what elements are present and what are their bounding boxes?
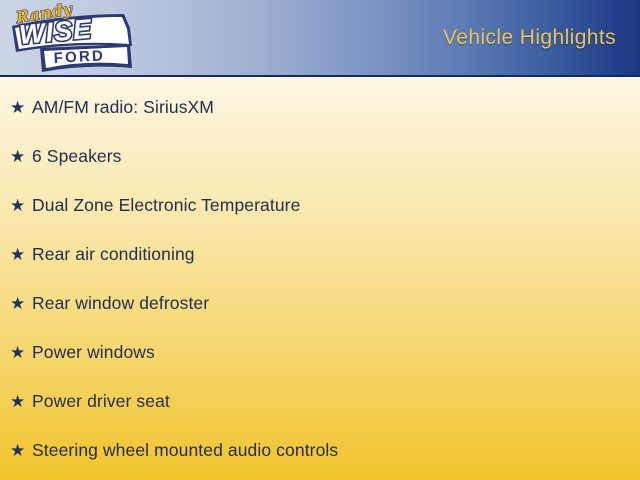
- highlight-item: ★ Dual Zone Electronic Temperature: [0, 197, 640, 246]
- star-bullet-icon: ★: [10, 344, 32, 361]
- highlight-label: AM/FM radio: SiriusXM: [32, 99, 640, 117]
- highlight-label: Rear window defroster: [32, 295, 640, 313]
- highlight-item: ★ AM/FM radio: SiriusXM: [0, 99, 640, 148]
- star-bullet-icon: ★: [10, 99, 32, 116]
- highlight-item: ★ Power windows: [0, 344, 640, 393]
- highlight-label: Power windows: [32, 344, 640, 362]
- highlight-label: Steering wheel mounted audio controls: [32, 442, 640, 460]
- highlight-label: 6 Speakers: [32, 148, 640, 166]
- randy-wise-ford-logo-icon: WISE FORD Randy: [6, 2, 134, 76]
- highlight-item: ★ Rear air conditioning: [0, 246, 640, 295]
- star-bullet-icon: ★: [10, 295, 32, 312]
- highlight-item: ★ Steering wheel mounted audio controls: [0, 442, 640, 480]
- header-bar: WISE FORD Randy Vehicle Highlights: [0, 0, 640, 77]
- highlight-item: ★ Power driver seat: [0, 393, 640, 442]
- highlight-item: ★ Rear window defroster: [0, 295, 640, 344]
- dealer-logo: WISE FORD Randy: [6, 2, 134, 76]
- vehicle-highlights-list: ★ AM/FM radio: SiriusXM ★ 6 Speakers ★ D…: [0, 77, 640, 480]
- highlight-item: ★ 6 Speakers: [0, 148, 640, 197]
- highlight-label: Dual Zone Electronic Temperature: [32, 197, 640, 215]
- vehicle-highlights-slide: WISE FORD Randy Vehicle Highlights ★ AM/…: [0, 0, 640, 480]
- highlight-label: Power driver seat: [32, 393, 640, 411]
- star-bullet-icon: ★: [10, 148, 32, 165]
- star-bullet-icon: ★: [10, 197, 32, 214]
- highlight-label: Rear air conditioning: [32, 246, 640, 264]
- star-bullet-icon: ★: [10, 246, 32, 263]
- star-bullet-icon: ★: [10, 393, 32, 410]
- star-bullet-icon: ★: [10, 442, 32, 459]
- logo-ford-text: FORD: [53, 47, 105, 67]
- page-title: Vehicle Highlights: [443, 26, 616, 50]
